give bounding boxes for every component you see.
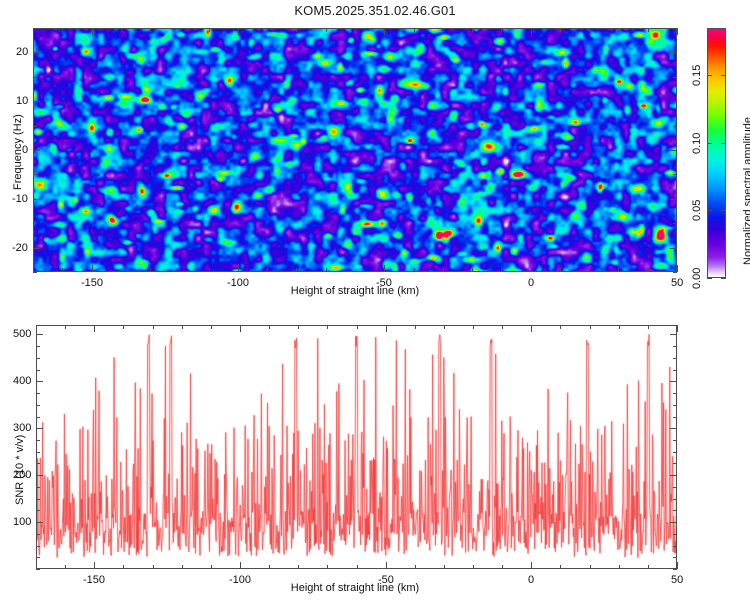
x-major-tick xyxy=(384,265,385,272)
x-minor-tick xyxy=(123,325,124,329)
x-minor-tick xyxy=(444,565,445,569)
figure-canvas: KOM5.2025.351.02.46.G01 -150-100-50050 -… xyxy=(0,0,750,600)
y-major-tick xyxy=(670,101,677,102)
y-minor-tick xyxy=(673,440,677,441)
y-major-tick xyxy=(36,381,43,382)
y-major-tick xyxy=(33,52,40,53)
y-minor-tick xyxy=(673,346,677,347)
x-minor-tick xyxy=(211,565,212,569)
colorbar-panel: 0.000.050.100.15 Normalized spectral amp… xyxy=(690,0,750,300)
y-minor-tick xyxy=(36,499,40,500)
y-major-tick xyxy=(670,248,677,249)
y-minor-tick xyxy=(673,370,677,371)
colorbar-tick xyxy=(707,143,712,144)
y-minor-tick xyxy=(36,417,40,418)
colorbar-tick-label: 0.00 xyxy=(691,267,703,288)
y-tick-label: -10 xyxy=(12,193,28,205)
y-major-tick xyxy=(670,428,677,429)
x-major-tick xyxy=(238,265,239,272)
x-minor-tick xyxy=(36,325,37,329)
y-major-tick xyxy=(670,150,677,151)
x-major-tick xyxy=(531,325,532,332)
y-minor-tick xyxy=(36,463,40,464)
x-major-tick xyxy=(677,265,678,272)
y-minor-tick xyxy=(673,405,677,406)
y-minor-tick xyxy=(36,534,40,535)
x-major-tick xyxy=(92,265,93,272)
x-minor-tick xyxy=(619,565,620,569)
spectrogram-axes-frame xyxy=(33,28,677,272)
y-minor-tick xyxy=(673,499,677,500)
x-major-tick xyxy=(92,28,93,35)
y-minor-tick xyxy=(36,557,40,558)
y-minor-tick xyxy=(33,126,37,127)
y-minor-tick xyxy=(33,77,37,78)
x-minor-tick xyxy=(327,565,328,569)
y-minor-tick xyxy=(673,569,677,570)
x-minor-tick xyxy=(269,325,270,329)
x-major-tick xyxy=(384,28,385,35)
y-minor-tick xyxy=(36,370,40,371)
x-minor-tick xyxy=(414,28,415,32)
snr-axes-frame xyxy=(36,325,677,569)
y-major-tick xyxy=(33,199,40,200)
spectrogram-panel: -150-100-50050 -20-1001020 Height of str… xyxy=(0,0,750,300)
y-major-tick xyxy=(670,199,677,200)
y-minor-tick xyxy=(36,405,40,406)
x-minor-tick xyxy=(501,28,502,32)
x-minor-tick xyxy=(560,325,561,329)
x-minor-tick xyxy=(648,28,649,32)
x-minor-tick xyxy=(298,325,299,329)
x-minor-tick xyxy=(327,325,328,329)
colorbar-tick-label: 0.15 xyxy=(691,64,703,85)
x-minor-tick xyxy=(560,28,561,32)
y-minor-tick xyxy=(673,546,677,547)
x-minor-tick xyxy=(444,325,445,329)
colorbar-tick-label: 0.05 xyxy=(691,199,703,220)
x-major-tick xyxy=(240,562,241,569)
colorbar-tick xyxy=(721,278,726,279)
x-minor-tick xyxy=(472,28,473,32)
x-minor-tick xyxy=(123,565,124,569)
y-tick-label: -20 xyxy=(12,242,28,254)
y-major-tick xyxy=(670,522,677,523)
x-minor-tick xyxy=(590,565,591,569)
x-minor-tick xyxy=(355,28,356,32)
x-minor-tick xyxy=(357,325,358,329)
spectrogram-x-axis-title: Height of straight line (km) xyxy=(0,285,710,297)
y-major-tick xyxy=(36,522,43,523)
x-minor-tick xyxy=(501,268,502,272)
y-tick-label: 400 xyxy=(13,375,31,387)
x-minor-tick xyxy=(298,565,299,569)
y-minor-tick xyxy=(673,126,677,127)
x-minor-tick xyxy=(62,268,63,272)
y-minor-tick xyxy=(673,77,677,78)
x-minor-tick xyxy=(179,268,180,272)
y-minor-tick xyxy=(673,393,677,394)
colorbar-tick xyxy=(721,210,726,211)
y-minor-tick xyxy=(673,174,677,175)
x-minor-tick xyxy=(153,325,154,329)
x-minor-tick xyxy=(296,28,297,32)
y-minor-tick xyxy=(36,440,40,441)
x-minor-tick xyxy=(648,268,649,272)
y-major-tick xyxy=(670,381,677,382)
y-minor-tick xyxy=(673,487,677,488)
y-minor-tick xyxy=(36,546,40,547)
colorbar-gradient xyxy=(707,28,726,278)
x-minor-tick xyxy=(589,268,590,272)
y-major-tick xyxy=(33,150,40,151)
x-minor-tick xyxy=(179,28,180,32)
x-minor-tick xyxy=(209,268,210,272)
y-minor-tick xyxy=(36,346,40,347)
x-major-tick xyxy=(531,265,532,272)
x-minor-tick xyxy=(502,325,503,329)
x-minor-tick xyxy=(153,565,154,569)
y-minor-tick xyxy=(33,174,37,175)
x-minor-tick xyxy=(326,28,327,32)
x-minor-tick xyxy=(182,325,183,329)
x-minor-tick xyxy=(590,325,591,329)
y-tick-label: 500 xyxy=(13,328,31,340)
x-major-tick xyxy=(238,28,239,35)
y-minor-tick xyxy=(673,272,677,273)
x-major-tick xyxy=(386,325,387,332)
y-minor-tick xyxy=(33,272,37,273)
x-minor-tick xyxy=(443,28,444,32)
x-minor-tick xyxy=(473,325,474,329)
snr-panel: -150-100-50050 100200300400500 Height of… xyxy=(0,300,750,600)
y-minor-tick xyxy=(33,28,37,29)
y-minor-tick xyxy=(673,223,677,224)
x-minor-tick xyxy=(560,268,561,272)
y-minor-tick xyxy=(673,28,677,29)
y-major-tick xyxy=(36,334,43,335)
y-minor-tick xyxy=(36,393,40,394)
x-minor-tick xyxy=(209,28,210,32)
x-minor-tick xyxy=(472,268,473,272)
x-major-tick xyxy=(677,28,678,35)
x-minor-tick xyxy=(269,565,270,569)
x-minor-tick xyxy=(618,268,619,272)
colorbar-tick-label: 0.10 xyxy=(691,132,703,153)
x-minor-tick xyxy=(121,28,122,32)
y-minor-tick xyxy=(36,569,40,570)
x-minor-tick xyxy=(648,325,649,329)
x-minor-tick xyxy=(619,325,620,329)
y-tick-label: 20 xyxy=(16,46,28,58)
x-major-tick xyxy=(531,562,532,569)
x-minor-tick xyxy=(648,565,649,569)
x-minor-tick xyxy=(443,268,444,272)
x-minor-tick xyxy=(182,565,183,569)
y-major-tick xyxy=(33,101,40,102)
x-minor-tick xyxy=(357,565,358,569)
x-minor-tick xyxy=(326,268,327,272)
x-minor-tick xyxy=(211,325,212,329)
x-minor-tick xyxy=(355,268,356,272)
x-major-tick xyxy=(94,325,95,332)
x-major-tick xyxy=(677,562,678,569)
colorbar-tick xyxy=(721,143,726,144)
y-minor-tick xyxy=(673,463,677,464)
x-minor-tick xyxy=(267,268,268,272)
x-minor-tick xyxy=(618,28,619,32)
y-minor-tick xyxy=(36,510,40,511)
x-major-tick xyxy=(677,325,678,332)
y-tick-label: 300 xyxy=(13,422,31,434)
y-minor-tick xyxy=(36,452,40,453)
y-minor-tick xyxy=(33,223,37,224)
x-minor-tick xyxy=(560,565,561,569)
x-minor-tick xyxy=(150,268,151,272)
x-major-tick xyxy=(94,562,95,569)
x-major-tick xyxy=(386,562,387,569)
snr-x-axis-title: Height of straight line (km) xyxy=(0,582,710,594)
spectrogram-y-axis-title: Frequency (Hz) xyxy=(12,114,24,190)
colorbar-tick xyxy=(707,75,712,76)
y-major-tick xyxy=(670,52,677,53)
x-minor-tick xyxy=(65,325,66,329)
y-minor-tick xyxy=(673,557,677,558)
y-major-tick xyxy=(670,334,677,335)
y-major-tick xyxy=(36,475,43,476)
x-minor-tick xyxy=(414,268,415,272)
y-major-tick xyxy=(36,428,43,429)
x-minor-tick xyxy=(296,268,297,272)
x-minor-tick xyxy=(267,28,268,32)
x-minor-tick xyxy=(415,325,416,329)
y-minor-tick xyxy=(673,452,677,453)
y-tick-label: 10 xyxy=(16,95,28,107)
x-minor-tick xyxy=(589,28,590,32)
y-minor-tick xyxy=(36,487,40,488)
y-minor-tick xyxy=(36,358,40,359)
y-minor-tick xyxy=(673,417,677,418)
x-minor-tick xyxy=(150,28,151,32)
y-minor-tick xyxy=(673,534,677,535)
x-minor-tick xyxy=(502,565,503,569)
x-major-tick xyxy=(240,325,241,332)
snr-y-axis-title: SNR (10 * v/v) xyxy=(14,435,26,505)
colorbar-tick xyxy=(707,210,712,211)
x-major-tick xyxy=(531,28,532,35)
y-minor-tick xyxy=(673,510,677,511)
colorbar-axis-title: Normalized spectral amplitude xyxy=(742,117,750,265)
x-minor-tick xyxy=(473,565,474,569)
x-minor-tick xyxy=(65,565,66,569)
y-major-tick xyxy=(33,248,40,249)
x-minor-tick xyxy=(62,28,63,32)
colorbar-tick xyxy=(707,278,712,279)
x-minor-tick xyxy=(415,565,416,569)
y-minor-tick xyxy=(673,358,677,359)
x-minor-tick xyxy=(121,268,122,272)
y-major-tick xyxy=(670,475,677,476)
colorbar-tick xyxy=(721,75,726,76)
y-tick-label: 100 xyxy=(13,516,31,528)
